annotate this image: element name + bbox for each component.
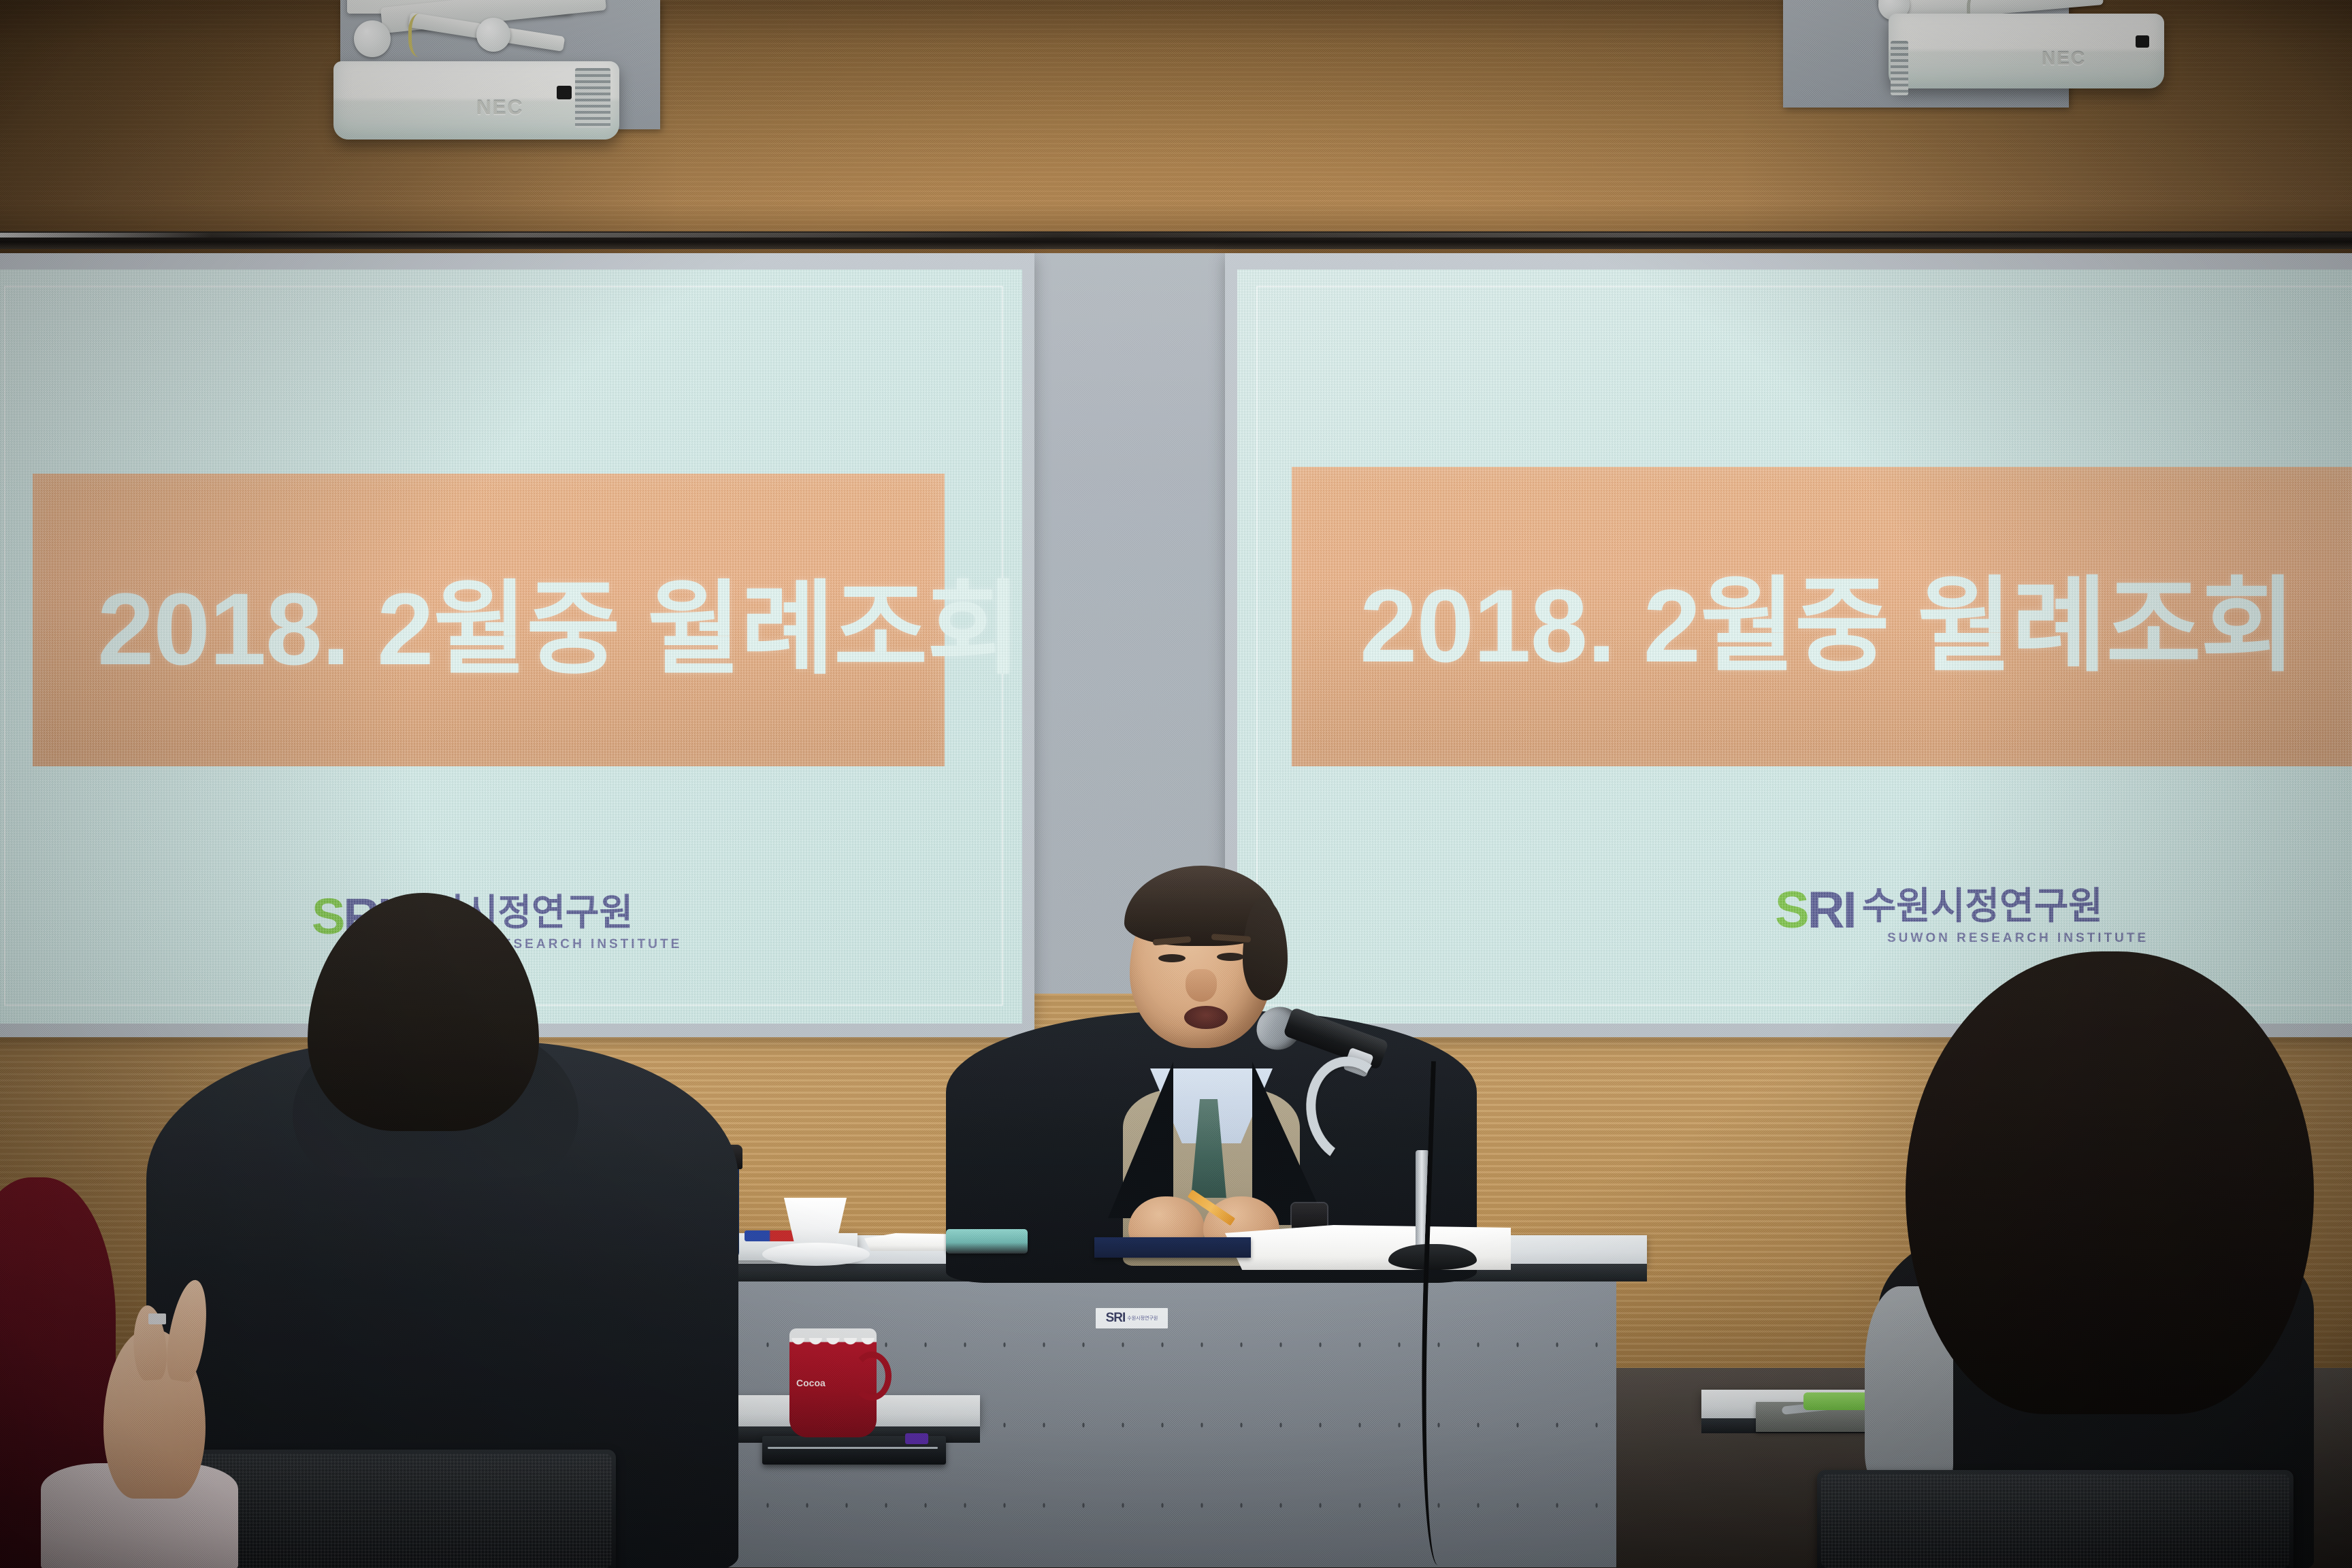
mug-label: Cocoa [796,1377,826,1388]
finger-ring [148,1313,166,1324]
audience-right-hair [1906,951,2314,1414]
sri-letter-s-right: S [1775,881,1808,939]
sri-korean-right: 수원시정연구원 [1862,875,2103,934]
smartphone-left [946,1229,1028,1254]
projector-knob-b-left [476,18,510,52]
projector-ir-sensor-right [2136,35,2149,48]
meeting-room-photo: 2018. 2월중 월례조회 SRI 수원시정연구원 SUWON RESEARC… [0,0,2352,1568]
projection-screen-left: 2018. 2월중 월례조회 SRI 수원시정연구원 SUWON RESEARC… [0,253,1034,1037]
sri-logo-row-right: SRI 수원시정연구원 [1775,875,2103,934]
projector-knob-a-left [354,20,391,57]
projector-brand-top-left: NEC [357,0,393,1]
slide-title-band-right: 2018. 2월중 월례조회 [1292,467,2352,766]
projector-ir-sensor-left [557,86,572,99]
slide-title-band-left: 2018. 2월중 월례조회 [33,474,945,766]
projector-vent-left [575,68,610,128]
chair-right[interactable] [1817,1470,2293,1568]
projector-cable-left [408,14,436,57]
sri-english-right: SUWON RESEARCH INSTITUTE [1887,931,2149,946]
sri-mark-right: SRI [1775,887,1855,934]
sri-sticker-mark: SRI [1106,1311,1126,1326]
projector-body-right [1889,14,2164,88]
sri-desk-sticker: SRI 수원시정연구원 [1096,1308,1168,1328]
speaker-eye-right [1217,953,1244,961]
laptop-seam-line [768,1447,938,1449]
ceiling-rail-highlight [0,233,2352,238]
slide-title-right: 2018. 2월중 월례조회 [1360,542,2295,691]
screen-canvas-left: 2018. 2월중 월례조회 SRI 수원시정연구원 SUWON RESEARC… [0,269,1022,1024]
sri-letter-s-left: S [312,888,343,945]
usb-stick [905,1433,928,1444]
speaker-open-mouth [1184,1006,1228,1029]
speaker-eye-left [1158,954,1186,962]
sri-logo-right: SRI 수원시정연구원 SUWON RESEARCH INSTITUTE [1775,875,2149,946]
projector-brand-label-left: NEC [476,97,523,120]
chair-right-mesh [1821,1474,2289,1568]
projector-brand-label-right: NEC [2042,48,2086,69]
screen-canvas-right: 2018. 2월중 월례조회 SRI 수원시정연구원 SUWON RESEARC… [1237,269,2352,1024]
mug-handle [852,1352,892,1401]
cup-saucer [762,1243,870,1266]
open-notebook [1094,1237,1251,1258]
speaker-nose [1186,969,1217,1002]
sri-letter-ri-right: RI [1808,881,1855,939]
sri-sticker-korean: 수원시정연구원 [1127,1316,1158,1321]
projection-screen-right: 2018. 2월중 월례조회 SRI 수원시정연구원 SUWON RESEARC… [1225,253,2352,1037]
slide-title-left: 2018. 2월중 월례조회 [97,546,1020,694]
projector-vent-right [1891,41,1908,95]
